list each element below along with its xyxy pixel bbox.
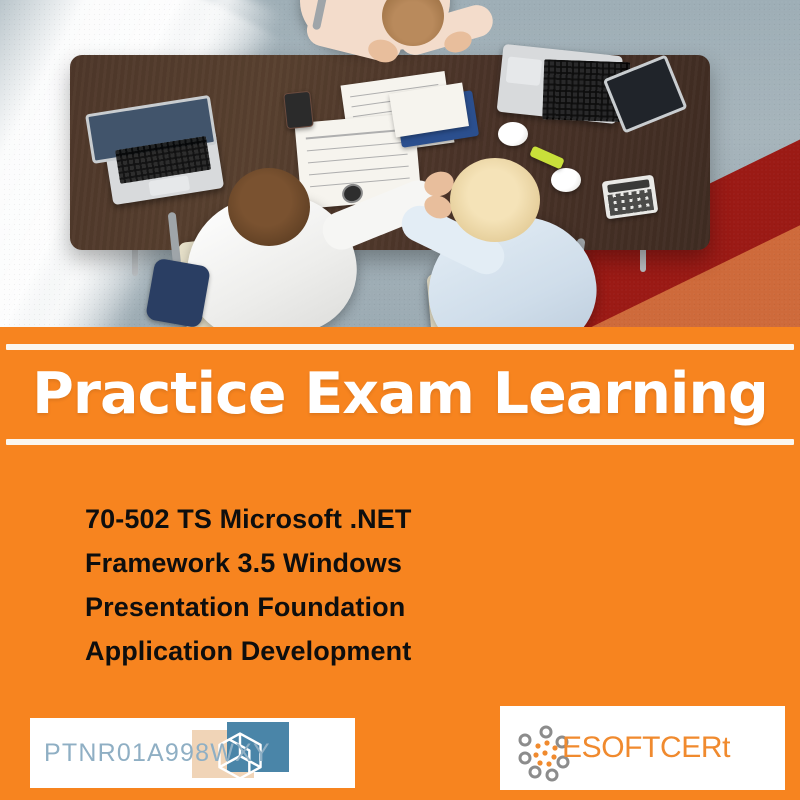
exam-title-line-4: Application Development [85,629,645,673]
smartphone [283,91,314,130]
exam-title-block: 70-502 TS Microsoft .NET Framework 3.5 W… [85,497,645,673]
exam-title-line-2: Framework 3.5 Windows [85,541,645,585]
exam-title-line-1: 70-502 TS Microsoft .NET [85,497,645,541]
bag-left [145,258,211,327]
person-right-head [450,158,540,242]
header-photo [0,0,800,327]
banner-rule-top [6,344,794,350]
watermark-logo: PTNR01A998WXY [30,718,355,788]
cup-lower [551,168,581,192]
banner-rule-bottom [6,439,794,445]
watermark-text: PTNR01A998WXY [44,718,271,788]
esoftcert-wordmark: ESOFTCERt [562,706,730,790]
cup-upper [498,122,528,146]
poster: Practice Exam Learning 70-502 TS Microso… [0,0,800,800]
title-banner: Practice Exam Learning [0,327,800,447]
esoftcert-logo: ESOFTCERt [500,706,785,790]
page-title: Practice Exam Learning [0,357,800,431]
exam-title-line-3: Presentation Foundation [85,585,645,629]
calculator [602,175,659,220]
person-left-head [228,168,310,246]
